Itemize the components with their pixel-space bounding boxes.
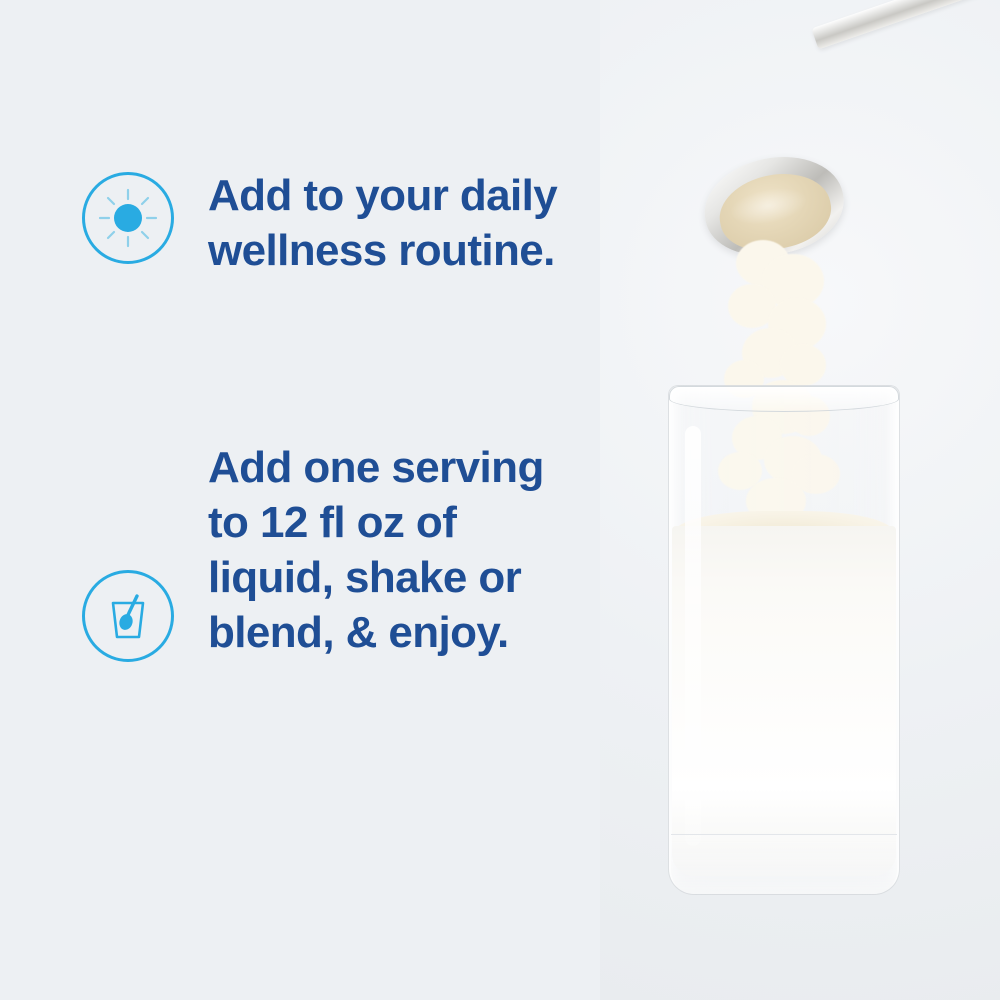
glass-base	[671, 834, 897, 894]
glass-liquid	[672, 526, 896, 876]
glass-highlight	[685, 426, 701, 846]
instruction-step-1: Add to your daily wellness routine.	[82, 168, 557, 278]
sun-icon	[82, 172, 174, 264]
drinking-glass	[668, 385, 900, 895]
instruction-step-1-text: Add to your daily wellness routine.	[208, 168, 557, 278]
product-photo: RES	[600, 0, 1000, 1000]
glass-rim	[669, 386, 899, 412]
instruction-step-2: Add one serving to 12 fl oz of liquid, s…	[82, 440, 544, 662]
glass-with-spoon-icon	[82, 570, 174, 662]
instruction-step-2-text: Add one serving to 12 fl oz of liquid, s…	[208, 440, 544, 660]
instructions-panel: Add to your daily wellness routine. Add …	[0, 0, 620, 1000]
instruction-graphic: Add to your daily wellness routine. Add …	[0, 0, 1000, 1000]
